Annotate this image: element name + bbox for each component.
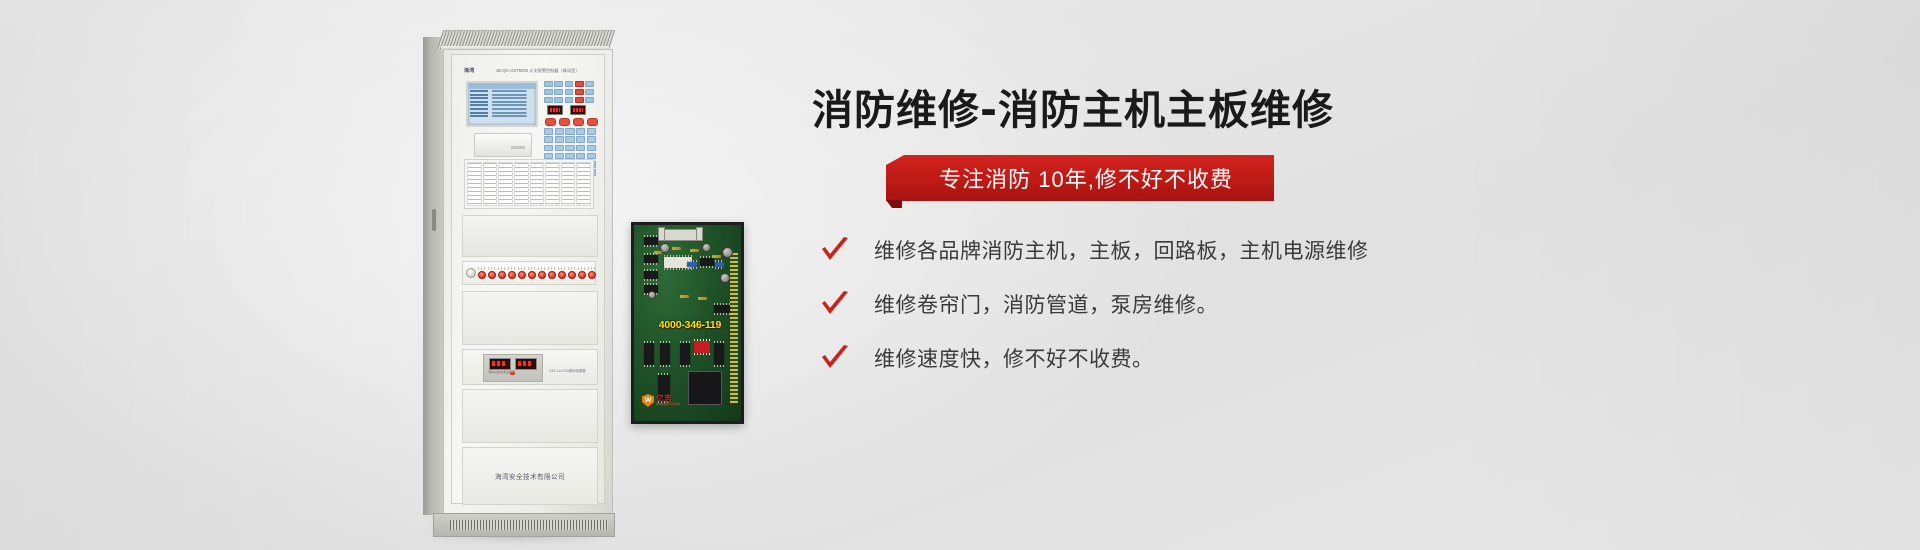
pcb-chip-7 [644,343,654,365]
cabinet-alarm-buttons [545,118,598,126]
pcb-chip-1 [644,237,658,245]
cabinet-power-supply-module: 消防设备电源监控器 GST-LD-D00模块电源箱 [462,349,598,385]
pcb-trimmer-2 [715,262,724,267]
pcb-capacitor-4 [720,273,730,283]
cabinet-blank-panel-1 [462,215,598,257]
cabinet-company-name: 海湾安全技术有限公司 [495,471,565,481]
pcb-resistor-1 [672,247,681,250]
cabinet-blank-panel-2 [462,291,598,345]
power-current-readout [515,358,537,370]
cabinet-body: 海湾 JB-QG-GST5000 火灾报警控制器（联动型） [443,49,613,517]
pcb-substrate: 4000-346-119 亿吉 www.yiji119.com [634,225,741,421]
pcb-resistor-5 [680,295,689,298]
shield-icon [642,394,654,407]
cabinet-brand-label: 海湾 [464,67,475,74]
banner-content: 消防维修-消防主机主板维修 专注消防 10年,修不好不收费 维修各品牌消防主机，… [812,90,1612,397]
cabinet-printer-drawer [474,133,532,157]
pcb-dip-switch [694,341,710,353]
page-title: 消防维修-消防主机主板维修 [812,90,1612,131]
cabinet-led-display-right [570,105,586,115]
pcb-trimmer-1 [687,262,697,267]
watermark-text: 亿吉 www.yiji119.com [656,395,680,406]
pcb-resistor-4 [654,251,662,254]
pcb-resistor-2 [690,249,699,252]
pcb-chip-2 [644,255,658,263]
pcb-watermark: 亿吉 www.yiji119.com [642,394,680,407]
lcd-event-rows [468,89,536,120]
watermark-url: www.yiji119.com [656,403,680,406]
check-icon [820,345,850,371]
fire-alarm-control-cabinet-image: 海湾 JB-QG-GST5000 火灾报警控制器（联动型） [423,15,613,538]
pcb-chip-6 [714,305,730,313]
slogan-text: 专注消防 10年,修不好不收费 [886,155,1274,201]
cabinet-company-plate: 海湾安全技术有限公司 [462,447,598,505]
pcb-capacitor-2 [702,243,711,252]
pcb-resistor-3 [712,255,721,258]
module-rotary-knob [466,268,476,278]
list-item: 维修各品牌消防主机，主板，回路板，主机电源维修 [820,235,1612,265]
power-module-face: 消防设备电源监控器 [483,354,543,382]
service-list: 维修各品牌消防主机，主板，回路板，主机电源维修 维修卷帘门，消防管道，泵房维修。… [812,235,1612,373]
power-voltage-readout [489,358,511,370]
power-status-led [510,372,515,375]
slogan-ribbon: 专注消防 10年,修不好不收费 [886,155,1274,201]
pcb-capacitor-5 [648,291,656,299]
pcb-capacitor-3 [722,247,733,258]
service-item-text: 维修各品牌消防主机，主板，回路板，主机电源维修 [874,235,1369,265]
cabinet-manual-control-module [462,261,596,285]
service-item-text: 维修卷帘门，消防管道，泵房维修。 [874,289,1218,319]
cabinet-blank-panel-3 [462,389,598,443]
pcb-cpu-plcc [688,371,722,405]
check-icon [820,237,850,263]
pcb-chip-3 [644,271,658,279]
check-icon [820,291,850,317]
promo-banner: 海湾 JB-QG-GST5000 火灾报警控制器（联动型） [0,0,1920,550]
pcb-chip-8 [660,343,670,365]
cabinet-model-label: JB-QG-GST5000 火灾报警控制器（联动型） [496,68,580,74]
pcb-relay-right [696,227,703,241]
list-item: 维修速度快，修不好不收费。 [820,343,1612,373]
cabinet-base-plinth [433,513,615,537]
cabinet-led-display-left [547,105,563,115]
pcb-chip-5 [700,258,714,266]
cabinet-front-door: 海湾 JB-QG-GST5000 火灾报警控制器（联动型） [451,54,605,504]
control-panel-mainboard-image: 4000-346-119 亿吉 www.yiji119.com [631,222,744,424]
pcb-relay-left [658,227,665,241]
cabinet-base-vent [450,520,608,530]
cabinet-lcd-display [466,81,538,127]
list-item: 维修卷帘门，消防管道，泵房维修。 [820,289,1612,319]
service-item-text: 维修速度快，修不好不收费。 [874,343,1154,373]
pcb-chip-10 [714,343,724,365]
pcb-resistor-6 [698,297,707,300]
cabinet-zone-indicator-cards [464,159,594,209]
power-module-model: GST-LD-D00模块电源箱 [549,368,586,373]
cabinet-door-handle [432,209,436,231]
ribbon-fold-tail [886,200,902,208]
pcb-hotline-overlay: 4000-346-119 [640,319,740,331]
pcb-chip-9 [680,343,690,365]
